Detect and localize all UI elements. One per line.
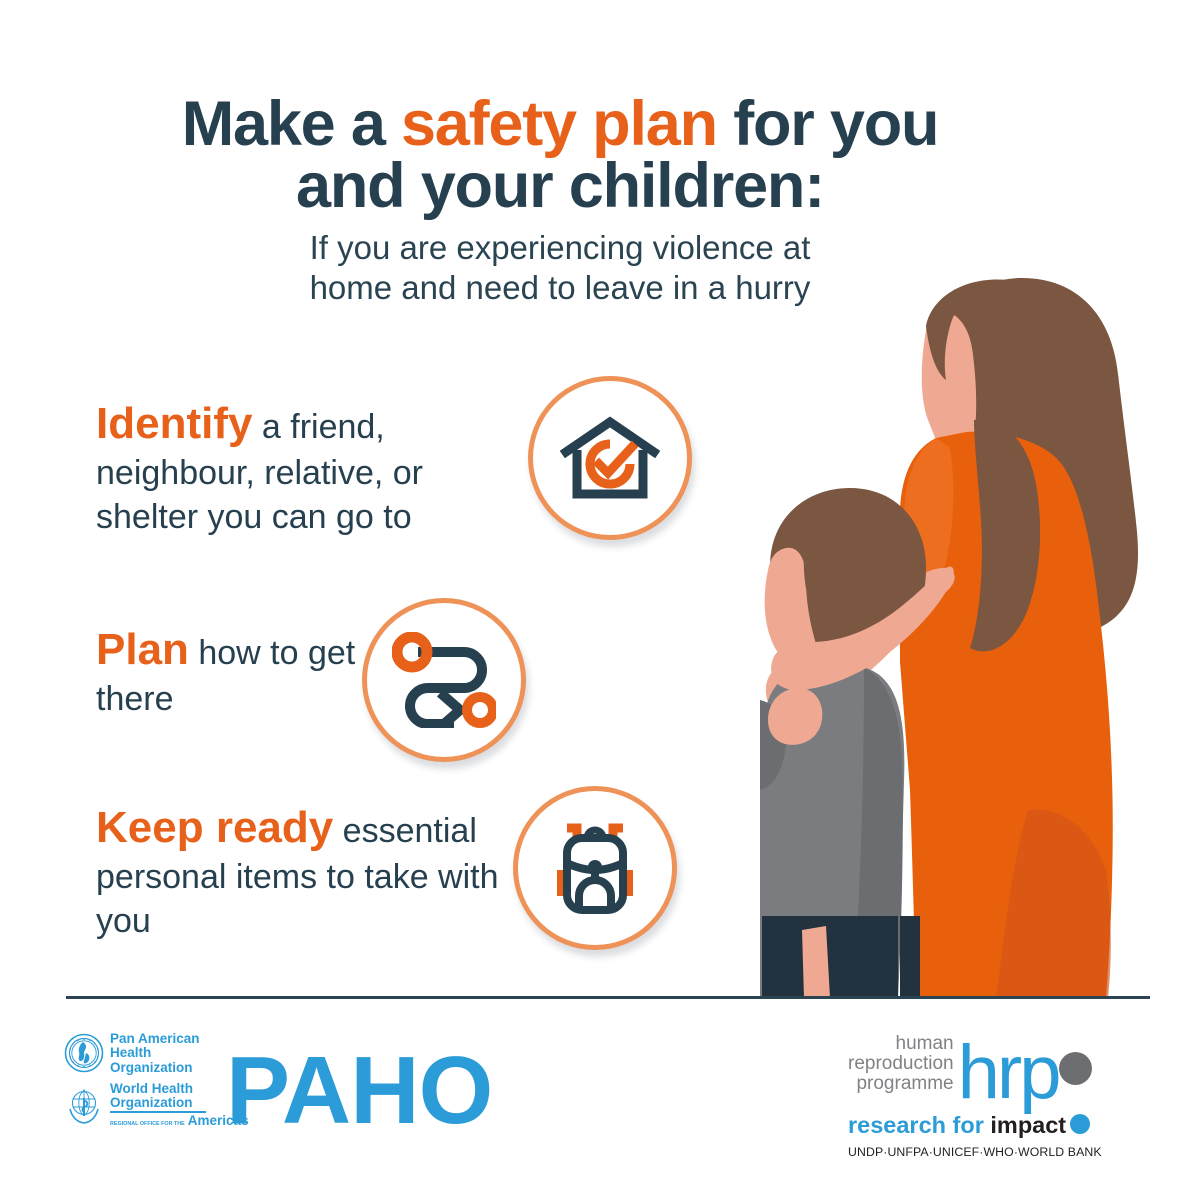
bullet-plan: Plan how to get there (96, 622, 416, 722)
pan-american-health-organization-text: Pan American Health Organization (110, 1032, 200, 1075)
hrp-mark: hrp (958, 1044, 1059, 1102)
hrp-logo: human reproduction programme hrp researc… (848, 1034, 1148, 1174)
bullet-identify-lead: Identify (96, 399, 252, 448)
hrp-tagline: research for impact (848, 1112, 1148, 1139)
bullet-identify: Identify a friend, neighbour, relative, … (96, 396, 496, 539)
title-segment-b: for you (717, 89, 938, 159)
mother-and-child-illustration (760, 270, 1200, 998)
backpack-icon (543, 816, 647, 920)
who-emblem-icon (64, 1085, 104, 1125)
hrp-letters: hrp (958, 1044, 1059, 1102)
paho-logo: Pan American Health Organization (64, 1032, 249, 1128)
bullet-keep-ready-lead: Keep ready (96, 803, 333, 852)
subtitle-line-2: home and need to leave in a hurry (130, 268, 990, 308)
hrp-top-row: human reproduction programme hrp (848, 1034, 1148, 1101)
hrp-tagline-impact: impact (990, 1112, 1066, 1138)
backpack-icon-badge (513, 786, 677, 950)
subtitle: If you are experiencing violence at home… (130, 228, 990, 309)
title-line-2: and your children: (60, 156, 1060, 218)
title-segment-a: Make a (182, 89, 401, 159)
paho-line-1: Pan American (110, 1032, 200, 1046)
footer-divider (66, 996, 1150, 999)
regional-office-label: REGIONAL OFFICE FOR THE (110, 1122, 185, 1128)
hrp-blue-dot-icon (1070, 1114, 1090, 1134)
hrp-grey-dot-icon (1059, 1052, 1092, 1085)
paho-globe-seal-icon (64, 1033, 104, 1073)
paho-line-2: Health (110, 1046, 200, 1060)
house-check-icon (558, 406, 662, 510)
pan-american-health-row: Pan American Health Organization (64, 1032, 249, 1075)
bullet-keep-ready: Keep ready essential personal items to t… (96, 800, 516, 943)
page-title: Make a safety plan for you and your chil… (60, 94, 1060, 217)
footer: Pan American Health Organization (0, 1012, 1200, 1200)
infographic-canvas: Make a safety plan for you and your chil… (0, 0, 1200, 1200)
hrp-word-programme: programme (848, 1074, 954, 1094)
paho-line-3: Organization (110, 1061, 200, 1075)
house-check-icon-badge (528, 376, 692, 540)
paho-wordmark: PAHO (226, 1043, 492, 1139)
title-accent: safety plan (401, 89, 717, 159)
hrp-word-reproduction: reproduction (848, 1054, 954, 1074)
hrp-word-human: human (848, 1034, 954, 1054)
hrp-words: human reproduction programme (848, 1034, 954, 1101)
hrp-agencies: UNDP·UNFPA·UNICEF·WHO·WORLD BANK (848, 1145, 1148, 1159)
subtitle-line-1: If you are experiencing violence at (130, 228, 990, 268)
bullet-plan-lead: Plan (96, 625, 189, 674)
paho-emblems: Pan American Health Organization (64, 1032, 249, 1128)
title-line-1: Make a safety plan for you (60, 94, 1060, 156)
world-health-organization-row: World Health Organization REGIONAL OFFIC… (64, 1082, 249, 1128)
hrp-tagline-blue: research for (848, 1112, 990, 1138)
